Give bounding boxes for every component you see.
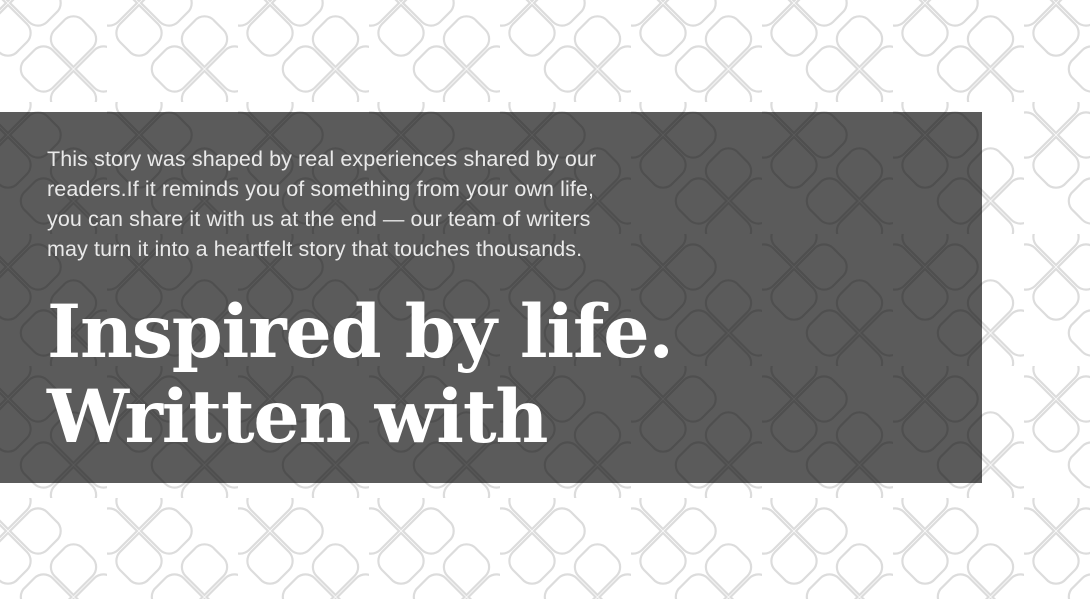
- panel-text-block: This story was shaped by real experience…: [47, 144, 747, 483]
- promo-banner: This story was shaped by real experience…: [0, 0, 1090, 599]
- dark-content-panel: This story was shaped by real experience…: [0, 112, 982, 483]
- intro-paragraph: This story was shaped by real experience…: [47, 144, 747, 264]
- headline: Inspired by life. Written with care.: [47, 264, 747, 483]
